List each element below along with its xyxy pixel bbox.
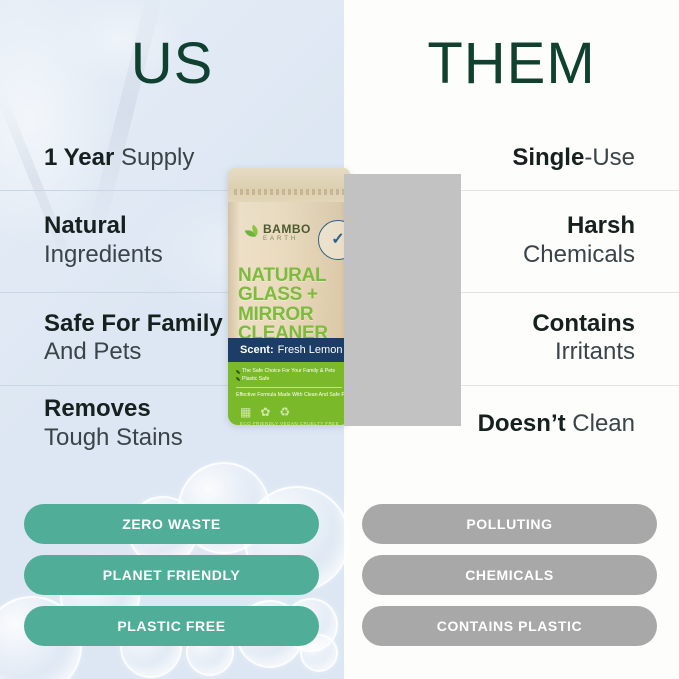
gray-overlay-block — [344, 174, 461, 426]
badge-leaf-glyph: ✓ — [331, 232, 344, 248]
them-pill-polluting[interactable]: POLLUTING — [362, 504, 657, 544]
brand-name: BAMBO — [263, 223, 311, 235]
pouch-bullet: Plastic Safe — [236, 376, 342, 384]
them-feature-3-line1: Contains — [532, 310, 635, 338]
them-feature-2-line2: Chemicals — [523, 240, 635, 270]
them-feature-1-line1: Single — [512, 144, 584, 171]
comparison-infographic: US THEM 1 Year Supply Natural Ingredient… — [0, 0, 679, 679]
us-pill-plastic-free[interactable]: PLASTIC FREE — [24, 606, 319, 646]
them-feature-1-line2: -Use — [584, 144, 635, 171]
pouch-zipper-top — [228, 168, 350, 202]
pouch-description: Effective Formula Made With Clean And Sa… — [236, 392, 342, 400]
scent-label: Scent: — [240, 344, 274, 356]
pouch-icon-row: ▦ ✿ ♻ — [236, 406, 342, 418]
pouch-divider — [236, 387, 342, 388]
bottle-icon: ▦ — [240, 406, 251, 418]
page-title-them: THEM — [344, 30, 679, 97]
us-feature-1-line2: Supply — [121, 144, 194, 171]
us-feature-2-line2: Ingredients — [44, 240, 163, 270]
brand-subtitle: EARTH — [263, 236, 311, 242]
us-feature-2-line1: Natural — [44, 212, 127, 240]
page-title-us: US — [0, 30, 344, 97]
product-pouch-image: BAMBO EARTH ✓ NATURAL GLASS + MIRROR CLE… — [228, 168, 350, 425]
bullet-leaf-icon — [236, 370, 240, 374]
bullet-leaf-icon — [236, 377, 240, 381]
leaf-shield-icon: ✿ — [260, 406, 270, 418]
pouch-footer-text: ECO FRIENDLY VEGAN CRUELTY FREE — [236, 421, 342, 425]
us-pill-zero-waste[interactable]: ZERO WASTE — [24, 504, 319, 544]
scent-value: Fresh Lemon — [278, 344, 343, 356]
leaf-icon — [244, 225, 260, 241]
pouch-bullet: The Safe Choice For Your Family & Pets — [236, 368, 342, 376]
them-feature-3-line2: Irritants — [555, 337, 635, 367]
scent-banner: Scent: Fresh Lemon — [228, 338, 350, 362]
pouch-bullet-text: Plastic Safe — [242, 376, 269, 384]
them-pill-chemicals[interactable]: CHEMICALS — [362, 555, 657, 595]
them-feature-4-line2: Clean — [572, 410, 635, 437]
brand-logo: BAMBO EARTH — [244, 223, 311, 242]
recycle-icon: ♻ — [279, 406, 290, 418]
pouch-green-section: The Safe Choice For Your Family & Pets P… — [228, 362, 350, 425]
pouch-bullet-text: The Safe Choice For Your Family & Pets — [242, 368, 335, 376]
us-feature-3-line1: Safe For Family — [44, 310, 223, 338]
us-feature-4-line1: Removes — [44, 395, 151, 423]
them-pill-contains-plastic[interactable]: CONTAINS PLASTIC — [362, 606, 657, 646]
us-badge-list: ZERO WASTE PLANET FRIENDLY PLASTIC FREE — [24, 504, 319, 657]
us-feature-4-line2: Tough Stains — [44, 423, 183, 453]
us-pill-planet-friendly[interactable]: PLANET FRIENDLY — [24, 555, 319, 595]
them-feature-4-line1: Doesn’t — [478, 410, 566, 437]
them-badge-list: POLLUTING CHEMICALS CONTAINS PLASTIC — [362, 504, 657, 657]
us-feature-1-line1: 1 Year — [44, 144, 114, 171]
us-feature-3-line2: And Pets — [44, 337, 141, 367]
them-feature-2-line1: Harsh — [567, 212, 635, 240]
